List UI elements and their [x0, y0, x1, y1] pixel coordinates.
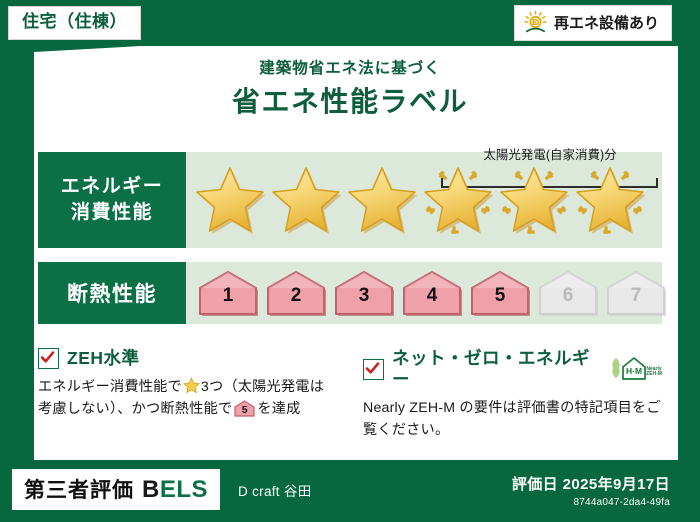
star-rating: [186, 152, 662, 248]
solar-sun-icon: [523, 10, 548, 35]
note-nze-body: Nearly ZEH-M の要件は評価書の特記項目をご覧ください。: [363, 397, 662, 441]
insulation-level-7: 7: [604, 269, 668, 317]
insulation-level-value: 6: [536, 286, 600, 305]
notes-section: ZEH水準 エネルギー消費性能で3つ（太陽光発電は考慮しない）、かつ断熱性能で5…: [38, 348, 662, 441]
title-block: 建築物省エネ法に基づく 省エネ性能ラベル: [0, 60, 700, 118]
note-zeh-title: ZEH水準: [67, 348, 140, 369]
insulation-level-1: 1: [196, 269, 260, 317]
note-zeh-text-3: を達成: [257, 401, 300, 417]
insulation-level-4: 4: [400, 269, 464, 317]
bels-logo-els: ELS: [160, 476, 208, 503]
star-2: [268, 162, 344, 238]
insulation-level-value: 1: [196, 286, 260, 305]
energy-performance-caption: エネルギー 消費性能: [38, 152, 186, 248]
svg-text:ZEH-M: ZEH-M: [646, 371, 662, 377]
insulation-performance-caption: 断熱性能: [38, 262, 186, 324]
bels-logo-b: B: [142, 476, 160, 503]
insulation-level-3: 3: [332, 269, 396, 317]
note-net-zero-energy: ネット・ゼロ・エネルギー H·M Nearly ZEH-M Nearly ZEH…: [363, 348, 662, 441]
insulation-level-2: 2: [264, 269, 328, 317]
insulation-level-value: 2: [264, 286, 328, 305]
evaluation-date: 評価日 2025年9月17日: [512, 473, 670, 494]
energy-caption-line2: 消費性能: [71, 200, 153, 226]
insulation-level-value: 4: [400, 286, 464, 305]
star-1: [192, 162, 268, 238]
note-zeh-text-1: エネルギー消費性能で: [38, 379, 182, 395]
energy-caption-line1: エネルギー: [61, 174, 164, 200]
bels-logo: BELS: [142, 476, 208, 504]
evaluation-date-label: 評価日: [512, 476, 558, 493]
star-icon: [183, 377, 200, 394]
bels-third-party-badge: 第三者評価 BELS: [12, 469, 220, 510]
note-nze-title: ネット・ゼロ・エネルギー: [392, 348, 598, 390]
note-nze-header: ネット・ゼロ・エネルギー H·M Nearly ZEH-M: [363, 348, 662, 390]
insulation-level-list: 1234567: [186, 262, 662, 324]
insulation-performance-row: 断熱性能 1234567: [38, 262, 662, 324]
insulation-level-5: 5: [468, 269, 532, 317]
evaluation-date-value: 2025年9月17日: [563, 476, 670, 493]
insulation-level-6: 6: [536, 269, 600, 317]
page-title: 省エネ性能ラベル: [0, 85, 700, 119]
star-5: [496, 162, 572, 238]
star-6: [572, 162, 648, 238]
bels-jp-label: 第三者評価: [24, 474, 134, 504]
building-name: D craft 谷田: [238, 480, 312, 500]
insulation-badge-inline: 5: [234, 400, 255, 417]
renewable-badge-label: 再エネ設備あり: [554, 12, 659, 33]
svg-text:H·M: H·M: [626, 366, 642, 376]
insulation-badge-inline-value: 5: [234, 405, 255, 416]
insulation-level-value: 7: [604, 286, 668, 305]
note-zeh-body: エネルギー消費性能で3つ（太陽光発電は考慮しない）、かつ断熱性能で5を達成: [38, 376, 337, 420]
energy-performance-label: 住宅（住棟） 再エネ設備あり 建築物省エ: [0, 0, 700, 522]
title-subtitle: 建築物省エネ法に基づく: [0, 60, 700, 79]
note-zeh-header: ZEH水準: [38, 348, 337, 369]
energy-performance-row: エネルギー 消費性能 太陽光発電(自家消費)分: [38, 152, 662, 248]
insulation-levels-panel: 1234567: [186, 262, 662, 324]
building-type-chip: 住宅（住棟）: [8, 6, 141, 40]
evaluation-info: 評価日 2025年9月17日 8744a047-2da4-49fa: [512, 473, 670, 508]
evaluation-id: 8744a047-2da4-49fa: [512, 497, 670, 508]
check-mark-icon: [38, 348, 59, 369]
check-mark-icon: [363, 359, 384, 380]
energy-stars-panel: 太陽光発電(自家消費)分: [186, 152, 662, 248]
note-zeh-standard: ZEH水準 エネルギー消費性能で3つ（太陽光発電は考慮しない）、かつ断熱性能で5…: [38, 348, 337, 441]
insulation-level-value: 5: [468, 286, 532, 305]
nearly-zeh-m-logo: H·M Nearly ZEH-M: [610, 354, 662, 384]
star-4: [420, 162, 496, 238]
renewable-equipment-badge: 再エネ設備あり: [514, 5, 672, 41]
insulation-level-value: 3: [332, 286, 396, 305]
star-3: [344, 162, 420, 238]
